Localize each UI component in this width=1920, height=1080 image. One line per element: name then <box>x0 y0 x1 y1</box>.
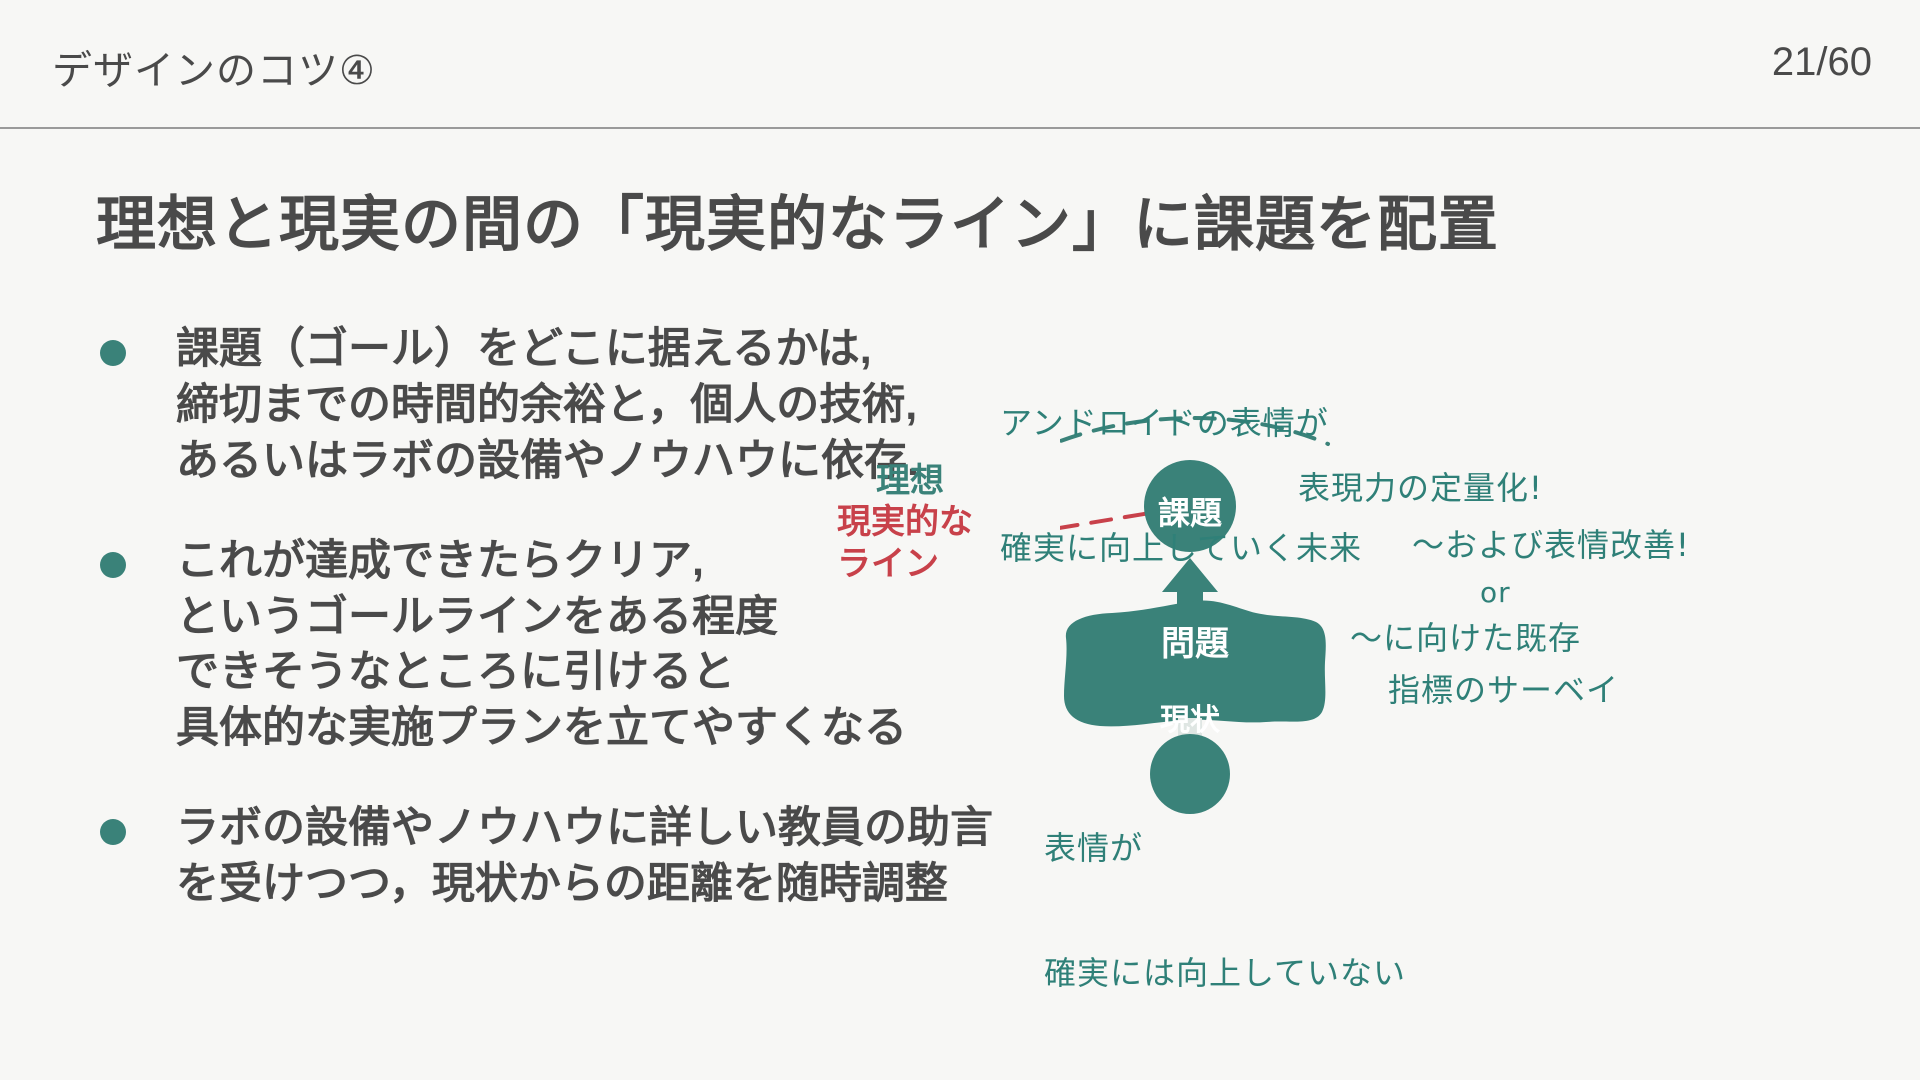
bullet-list: 課題（ゴール）をどこに据えるかは, 締切までの時間的余裕と，個人の技術, あるい… <box>96 322 1156 957</box>
annotation-future-line1: アンドロイドの表情が <box>1000 403 1362 445</box>
page-title: 理想と現実の間の「現実的なライン」に課題を配置 <box>96 176 1499 263</box>
header-title: デザインのコツ④ <box>52 38 376 96</box>
list-item: 課題（ゴール）をどこに据えるかは, 締切までの時間的余裕と，個人の技術, あるい… <box>96 322 1156 490</box>
bullet-line: ラボの設備やノウハウに詳しい教員の助言 <box>176 801 1156 857</box>
annotation-current-line2: 確実には向上していない <box>1044 953 1406 995</box>
bullet-line: できそうなところに引けると <box>176 645 1156 701</box>
realistic-line-label-line2: ライン <box>837 543 973 585</box>
bullet-dot-icon <box>100 552 126 578</box>
annotation-survey: 指標のサーベイ <box>1388 670 1619 712</box>
bullet-line: 具体的な実施プランを立てやすくなる <box>176 701 1156 757</box>
bullet-dot-icon <box>100 340 126 366</box>
realistic-line-label-line1: 現実的な <box>837 501 973 543</box>
annotation-or: or <box>1480 575 1511 611</box>
list-item: ラボの設備やノウハウに詳しい教員の助言 を受けつつ，現状からの距離を随時調整 <box>96 801 1156 913</box>
header-divider <box>0 127 1920 129</box>
page-number: 21/60 <box>1772 40 1872 85</box>
slide-header: デザインのコツ④ 21/60 <box>0 0 1920 128</box>
annotation-existing: 〜に向けた既存 <box>1350 618 1581 660</box>
annotation-improve: 〜および表情改善! <box>1412 525 1690 567</box>
list-item: これが達成できたらクリア, というゴールラインをある程度 できそうなところに引け… <box>96 534 1156 758</box>
ideal-line-label: 理想 <box>876 453 944 502</box>
slide-root: デザインのコツ④ 21/60 理想と現実の間の「現実的なライン」に課題を配置 課… <box>0 0 1920 1080</box>
goal-gap-diagram: 課題 問題 現状 理想 現実的な ライン アンドロイドの表情が 確実に向上してい… <box>1060 370 1920 1050</box>
annotation-current: 表情が 確実には向上していない <box>1044 745 1406 1078</box>
annotation-current-line1: 表情が <box>1044 828 1406 870</box>
realistic-line-label: 現実的な ライン <box>837 501 973 585</box>
bullet-dot-icon <box>100 819 126 845</box>
annotation-future-line2: 確実に向上していく未来 <box>1000 528 1362 570</box>
bullet-line: を受けつつ，現状からの距離を随時調整 <box>176 857 1156 913</box>
annotation-quantify: 表現力の定量化! <box>1298 468 1543 510</box>
